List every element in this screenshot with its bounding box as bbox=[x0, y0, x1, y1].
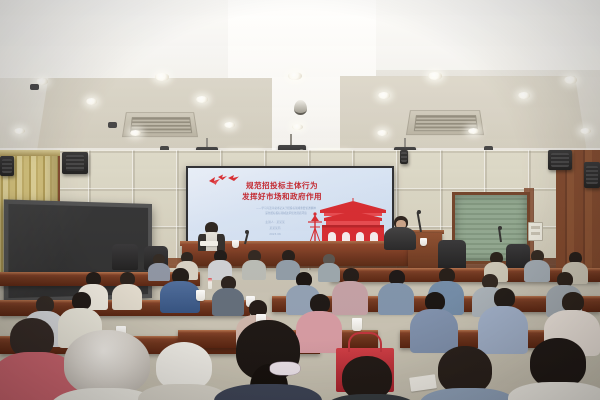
person-head bbox=[438, 346, 492, 394]
audience-person bbox=[378, 270, 414, 312]
dome-camera-icon bbox=[294, 100, 307, 115]
ceiling-sensor-icon bbox=[108, 122, 117, 128]
person-head bbox=[562, 292, 584, 312]
downlight bbox=[288, 72, 302, 80]
downlight bbox=[468, 128, 479, 134]
wall-speaker-right bbox=[548, 150, 572, 170]
ceiling-sensor-icon bbox=[30, 84, 39, 90]
wall-speaker-far-left bbox=[0, 156, 14, 176]
downlight bbox=[564, 76, 577, 84]
person-torso bbox=[112, 284, 142, 310]
slide-title-line-1: 规范招投标主体行为 bbox=[188, 180, 376, 191]
wall-speaker-left bbox=[62, 152, 88, 174]
audience-person-foreground bbox=[326, 356, 416, 400]
microphone-head-icon bbox=[498, 226, 502, 230]
person-torso bbox=[214, 384, 322, 400]
paper-cup bbox=[420, 238, 427, 246]
person-torso bbox=[378, 283, 414, 315]
conference-hall-photo: 规范招投标主体行为 发挥好市场和政府作用 ——学习习近平总书记关于招投标领域重要… bbox=[0, 0, 600, 400]
person-torso bbox=[508, 382, 600, 400]
audience-person bbox=[410, 292, 458, 350]
handbag-handle bbox=[348, 332, 382, 352]
microphone-head-icon bbox=[245, 230, 249, 234]
paper-cup bbox=[232, 240, 239, 248]
ceiling bbox=[0, 0, 600, 172]
downlight bbox=[224, 122, 235, 128]
control-switch-icon[interactable] bbox=[531, 232, 540, 235]
audience-person bbox=[242, 250, 266, 278]
person-torso bbox=[242, 260, 266, 280]
downlight bbox=[14, 128, 25, 134]
hair-clip bbox=[270, 362, 300, 375]
person-head bbox=[156, 342, 212, 390]
downlight bbox=[155, 73, 169, 81]
paper-cup bbox=[352, 318, 362, 331]
person-torso bbox=[326, 394, 416, 400]
downlight bbox=[518, 92, 530, 99]
audience-person-foreground bbox=[138, 342, 228, 400]
downlight bbox=[292, 124, 303, 130]
audience-person bbox=[208, 250, 232, 278]
person-head bbox=[530, 338, 586, 388]
person-torso bbox=[420, 388, 516, 400]
wall-speaker-far-right bbox=[584, 162, 600, 188]
empty-chair[interactable] bbox=[112, 244, 138, 270]
seated-presenter-right bbox=[384, 216, 416, 248]
downlight bbox=[378, 92, 390, 99]
paper-cup bbox=[196, 290, 205, 301]
audience-person-foreground bbox=[508, 338, 600, 400]
audience-person bbox=[112, 272, 142, 306]
empty-chair[interactable] bbox=[438, 240, 466, 270]
document-on-table bbox=[200, 241, 218, 246]
audience-person-foreground bbox=[420, 346, 516, 400]
downlight bbox=[86, 98, 97, 105]
downlight bbox=[130, 130, 141, 136]
water-bottle bbox=[208, 278, 212, 289]
downlight bbox=[196, 96, 208, 103]
person-torso bbox=[160, 281, 200, 313]
wall-control-panel bbox=[528, 222, 543, 241]
downlight bbox=[580, 128, 591, 134]
presenter-right-torso bbox=[384, 227, 416, 250]
audience-person-foreground-ponytail bbox=[218, 320, 318, 400]
person-head bbox=[494, 288, 515, 308]
wall-speaker-mid-right bbox=[400, 150, 408, 164]
audience-person bbox=[160, 268, 200, 310]
control-switch-icon[interactable] bbox=[531, 226, 540, 229]
downlight bbox=[428, 72, 442, 80]
presenter-left-arm bbox=[217, 234, 225, 251]
downlight bbox=[377, 130, 388, 136]
microphone-head-icon bbox=[417, 210, 421, 214]
